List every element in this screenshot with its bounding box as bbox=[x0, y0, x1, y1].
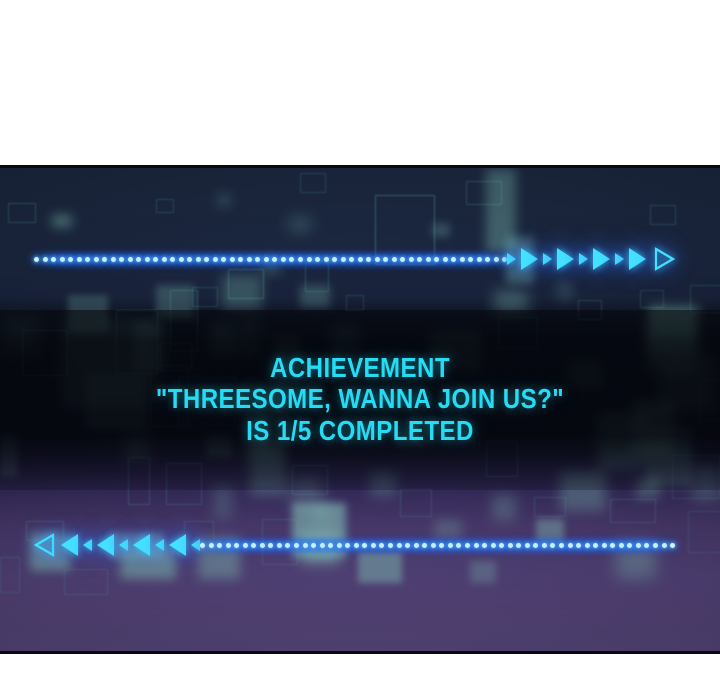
rail-dot bbox=[568, 543, 573, 548]
rail-dot bbox=[213, 257, 218, 262]
caption-line-1: ACHIEVEMENT bbox=[50, 352, 669, 383]
rail-dot bbox=[136, 257, 141, 262]
rail-dot bbox=[345, 543, 350, 548]
rail-dot bbox=[255, 257, 260, 262]
arrow-large-icon bbox=[169, 534, 186, 556]
panel-border-top bbox=[0, 165, 720, 168]
rail-dot bbox=[431, 543, 436, 548]
rail-dot bbox=[60, 257, 65, 262]
rail-dot bbox=[366, 257, 371, 262]
rail-dot bbox=[238, 257, 243, 262]
rail-dot bbox=[499, 543, 504, 548]
arrow-track-bottom bbox=[34, 528, 200, 562]
caption-line-3: IS 1/5 COMPLETED bbox=[50, 415, 669, 446]
rail-dot bbox=[264, 257, 269, 262]
rail-dot bbox=[234, 543, 239, 548]
rail-dot bbox=[371, 543, 376, 548]
rail-dot bbox=[456, 543, 461, 548]
rail-dot bbox=[162, 257, 167, 262]
panel-border-bottom bbox=[0, 651, 720, 654]
arrow-large-icon bbox=[593, 248, 610, 270]
rail-dot bbox=[354, 543, 359, 548]
rail-dot bbox=[307, 257, 312, 262]
arrow-small-icon bbox=[543, 253, 552, 265]
rail-dot bbox=[320, 543, 325, 548]
achievement-caption: ACHIEVEMENT "THREESOME, WANNA JOIN US?" … bbox=[50, 352, 669, 446]
rail-dot bbox=[324, 257, 329, 262]
arrow-large-icon bbox=[133, 534, 150, 556]
rail-dot bbox=[221, 257, 226, 262]
rail-dot bbox=[251, 543, 256, 548]
rail-dot bbox=[662, 543, 667, 548]
rail-dot bbox=[281, 257, 286, 262]
arrow-large-icon bbox=[629, 248, 646, 270]
rail-dot bbox=[243, 543, 248, 548]
rail-dot bbox=[247, 257, 252, 262]
rail-dot bbox=[434, 257, 439, 262]
rail-dot bbox=[196, 257, 201, 262]
rail-dot bbox=[111, 257, 116, 262]
rail-dot bbox=[230, 257, 235, 262]
rail-dot bbox=[576, 543, 581, 548]
rail-dot bbox=[585, 543, 590, 548]
arrow-small-icon bbox=[579, 253, 588, 265]
rail-dot bbox=[272, 257, 277, 262]
rail-dot bbox=[68, 257, 73, 262]
rail-dot bbox=[102, 257, 107, 262]
arrow-hollow-icon bbox=[653, 247, 675, 271]
arrow-hollow-icon bbox=[34, 533, 56, 557]
rail-dot bbox=[311, 543, 316, 548]
rail-dot bbox=[653, 543, 658, 548]
rail-dot bbox=[285, 543, 290, 548]
rail-dot bbox=[426, 257, 431, 262]
rail-dot bbox=[51, 257, 56, 262]
rail-dot bbox=[619, 543, 624, 548]
rail-dot bbox=[559, 543, 564, 548]
rail-dot bbox=[439, 543, 444, 548]
rail-dot bbox=[200, 543, 205, 548]
rail-dot bbox=[362, 543, 367, 548]
rail-dot bbox=[627, 543, 632, 548]
arrow-small-icon bbox=[507, 253, 516, 265]
rail-dot bbox=[414, 543, 419, 548]
rail-dot bbox=[494, 257, 499, 262]
rail-dot bbox=[383, 257, 388, 262]
rail-dot bbox=[636, 543, 641, 548]
rail-dot bbox=[516, 543, 521, 548]
rail-dot bbox=[405, 543, 410, 548]
rail-dot bbox=[417, 257, 422, 262]
rail-dot bbox=[226, 543, 231, 548]
rail-dot bbox=[448, 543, 453, 548]
rail-dot bbox=[341, 257, 346, 262]
rail-dot bbox=[508, 543, 513, 548]
rail-dot bbox=[43, 257, 48, 262]
rail-dot bbox=[465, 543, 470, 548]
progress-rail-bottom bbox=[0, 528, 720, 562]
rail-dot bbox=[460, 257, 465, 262]
rail-dot bbox=[477, 257, 482, 262]
arrow-large-icon bbox=[61, 534, 78, 556]
rail-dot bbox=[204, 257, 209, 262]
rail-dot bbox=[474, 543, 479, 548]
rail-dot bbox=[610, 543, 615, 548]
rail-dot bbox=[451, 257, 456, 262]
arrow-small-icon bbox=[83, 539, 92, 551]
rail-dot bbox=[602, 543, 607, 548]
rail-dot bbox=[298, 257, 303, 262]
rail-dot bbox=[593, 543, 598, 548]
rail-dot bbox=[550, 543, 555, 548]
progress-rail-top bbox=[0, 242, 720, 276]
rail-dot bbox=[397, 543, 402, 548]
rail-dot bbox=[358, 257, 363, 262]
caption-line-2: "THREESOME, WANNA JOIN US?" bbox=[50, 383, 669, 414]
arrow-track-top bbox=[507, 242, 675, 276]
rail-dot bbox=[525, 543, 530, 548]
rail-dot bbox=[179, 257, 184, 262]
rail-dot bbox=[289, 257, 294, 262]
arrow-small-icon bbox=[615, 253, 624, 265]
arrow-small-icon bbox=[155, 539, 164, 551]
rail-dot bbox=[94, 257, 99, 262]
rail-dot bbox=[170, 257, 175, 262]
rail-dot bbox=[443, 257, 448, 262]
rail-dot bbox=[379, 543, 384, 548]
arrow-large-icon bbox=[557, 248, 574, 270]
rail-dot bbox=[400, 257, 405, 262]
arrow-large-icon bbox=[521, 248, 538, 270]
rail-dot bbox=[85, 257, 90, 262]
rail-dot bbox=[145, 257, 150, 262]
rail-dot bbox=[332, 257, 337, 262]
rail-dot bbox=[349, 257, 354, 262]
rail-dot bbox=[153, 257, 158, 262]
rail-dot bbox=[209, 543, 214, 548]
rail-dot bbox=[315, 257, 320, 262]
rail-dot bbox=[277, 543, 282, 548]
rail-dot bbox=[128, 257, 133, 262]
rail-dot bbox=[260, 543, 265, 548]
rail-dot bbox=[328, 543, 333, 548]
rail-dot bbox=[34, 257, 39, 262]
rail-dot bbox=[392, 257, 397, 262]
rail-dot bbox=[422, 543, 427, 548]
screenshot-root: ACHIEVEMENT "THREESOME, WANNA JOIN US?" … bbox=[0, 0, 720, 700]
rail-dot bbox=[533, 543, 538, 548]
rail-dot bbox=[670, 543, 675, 548]
dot-track-bottom bbox=[200, 528, 675, 562]
rail-dot bbox=[542, 543, 547, 548]
dot-track-top bbox=[34, 242, 507, 276]
rail-dot bbox=[268, 543, 273, 548]
rail-dot bbox=[388, 543, 393, 548]
rail-dot bbox=[77, 257, 82, 262]
rail-dot bbox=[294, 543, 299, 548]
rail-dot bbox=[644, 543, 649, 548]
comic-panel: ACHIEVEMENT "THREESOME, WANNA JOIN US?" … bbox=[0, 165, 720, 654]
rail-dot bbox=[119, 257, 124, 262]
arrow-large-icon bbox=[97, 534, 114, 556]
rail-dot bbox=[375, 257, 380, 262]
rail-dot bbox=[303, 543, 308, 548]
rail-dot bbox=[409, 257, 414, 262]
rail-dot bbox=[217, 543, 222, 548]
rail-dot bbox=[491, 543, 496, 548]
rail-dot bbox=[187, 257, 192, 262]
rail-dot bbox=[337, 543, 342, 548]
arrow-small-icon bbox=[119, 539, 128, 551]
rail-dot bbox=[482, 543, 487, 548]
rail-dot bbox=[485, 257, 490, 262]
rail-dot bbox=[468, 257, 473, 262]
